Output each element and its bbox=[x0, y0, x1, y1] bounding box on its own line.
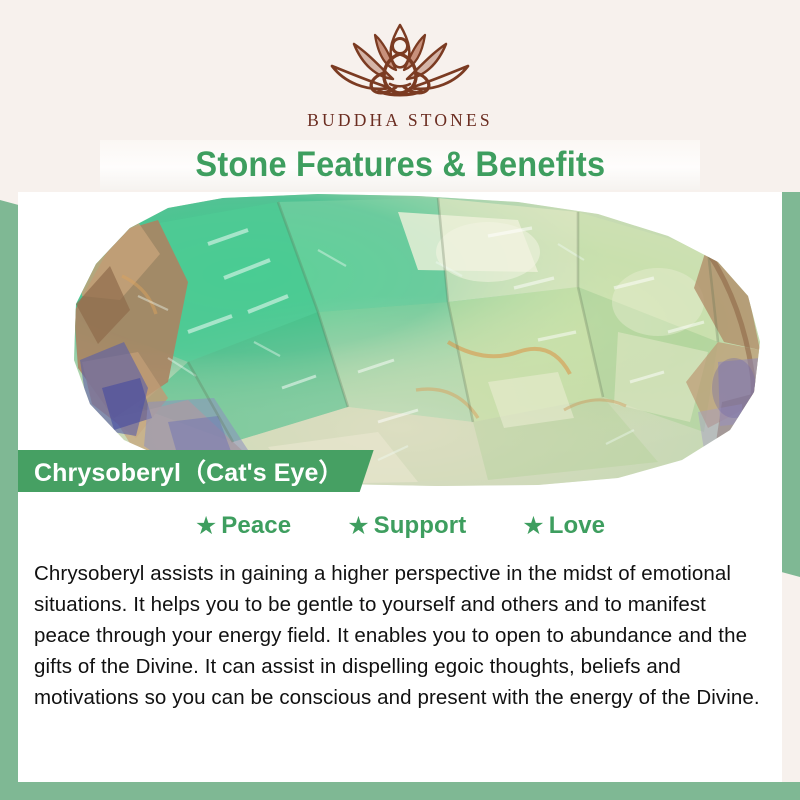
lotus-meditating-figure-icon bbox=[315, 18, 485, 106]
title-banner: Stone Features & Benefits bbox=[100, 140, 700, 190]
benefit-label: Support bbox=[374, 512, 467, 540]
benefit-item-support: ★ Support bbox=[347, 512, 466, 540]
stone-name-banner: Chrysoberyl（Cat's Eye） bbox=[18, 450, 374, 492]
frame-accent-bottom bbox=[0, 782, 800, 800]
benefit-label: Love bbox=[549, 512, 605, 540]
stone-description: Chrysoberyl assists in gaining a higher … bbox=[34, 558, 766, 713]
brand-logo: BUDDHA STONES bbox=[0, 18, 800, 131]
page-title: Stone Features & Benefits bbox=[195, 145, 605, 185]
stone-name: Chrysoberyl（Cat's Eye） bbox=[34, 453, 344, 489]
stone-image bbox=[18, 192, 782, 487]
star-icon: ★ bbox=[195, 514, 217, 539]
benefit-label: Peace bbox=[221, 512, 291, 540]
benefits-row: ★ Peace ★ Support ★ Love bbox=[18, 512, 782, 540]
stone-photo bbox=[18, 192, 782, 487]
benefit-item-love: ★ Love bbox=[522, 512, 605, 540]
stone-illustration bbox=[18, 192, 782, 487]
star-icon: ★ bbox=[522, 514, 544, 539]
brand-name: BUDDHA STONES bbox=[307, 110, 493, 131]
poster-header: BUDDHA STONES Stone Features & Benefits bbox=[0, 0, 800, 192]
star-icon: ★ bbox=[347, 514, 369, 539]
benefit-item-peace: ★ Peace bbox=[195, 512, 291, 540]
stone-info-poster: Chrysoberyl（Cat's Eye） ★ Peace ★ Support… bbox=[0, 0, 800, 800]
